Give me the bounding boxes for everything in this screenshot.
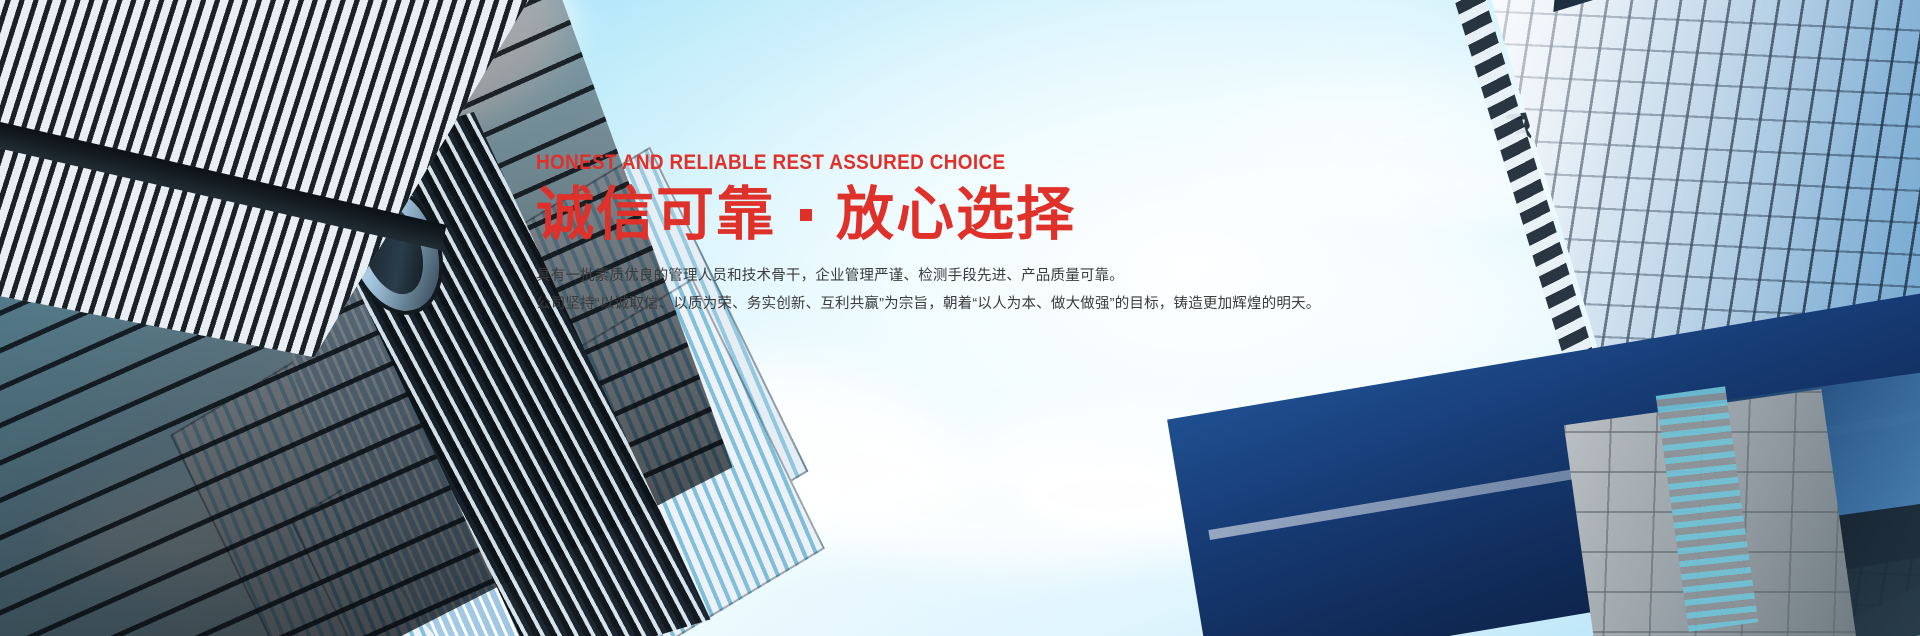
banner-body-line-1: 具有一批素质优良的管理人员和技术骨干，企业管理严谨、检测手段先进、产品质量可靠。 bbox=[536, 262, 1356, 290]
banner-headline: 诚信可靠 放心选择 bbox=[536, 185, 1356, 246]
hero-banner: HONEST AND RELIABLE REST ASSURED CHOICE … bbox=[0, 0, 1920, 636]
headline-separator-dot bbox=[800, 209, 812, 221]
banner-copy: HONEST AND RELIABLE REST ASSURED CHOICE … bbox=[536, 152, 1356, 318]
cloud bbox=[1020, 460, 1200, 530]
headline-left-text: 诚信可靠 bbox=[536, 185, 776, 246]
headline-right-text: 放心选择 bbox=[836, 185, 1076, 246]
banner-body-line-2: 公司坚持“以诚取信、以质为荣、务实创新、互利共赢”为宗旨，朝着“以人为本、做大做… bbox=[536, 290, 1356, 318]
banner-eyebrow: HONEST AND RELIABLE REST ASSURED CHOICE bbox=[536, 152, 1274, 173]
